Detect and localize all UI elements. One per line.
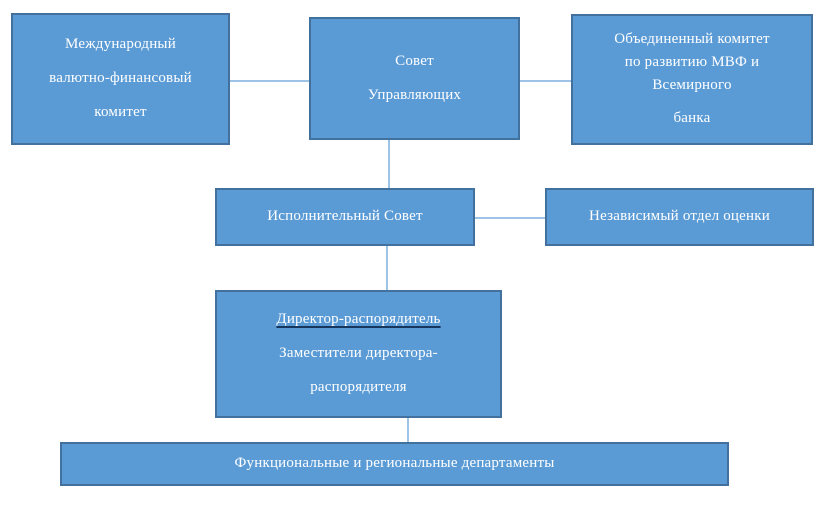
connector-board-to-development-committee: [518, 80, 573, 82]
connector-executive-board-to-managing-director: [386, 244, 388, 292]
node-executive-board-label: Исполнительный Совет: [223, 209, 467, 225]
node-development-committee-line-3: Всемирного: [579, 78, 805, 94]
node-independent-evaluation-office[interactable]: Независимый отдел оценки: [545, 188, 814, 246]
node-managing-director-line-1: Директор-распорядитель: [223, 312, 494, 328]
connector-executive-board-to-evaluation-office: [473, 217, 546, 219]
node-imfc-line-2: валютно-финансовый: [19, 71, 222, 87]
node-imfc-line-1: Международный: [19, 37, 222, 53]
node-imfc-line-3: комитет: [19, 105, 222, 121]
node-executive-board[interactable]: Исполнительный Совет: [215, 188, 475, 246]
node-departments[interactable]: Функциональные и региональные департамен…: [60, 442, 729, 486]
node-development-committee[interactable]: Объединенный комитет по развитию МВФ и В…: [571, 14, 813, 145]
node-board-of-governors-line-2: Управляющих: [317, 88, 512, 104]
node-managing-director-line-3: распорядителя: [223, 380, 494, 396]
node-development-committee-line-4: банка: [579, 111, 805, 127]
node-managing-director-line-2: Заместители директора-: [223, 346, 494, 362]
connector-board-to-executive-board: [388, 138, 390, 190]
node-managing-director[interactable]: Директор-распорядитель Заместители дирек…: [215, 290, 502, 418]
node-development-committee-line-1: Объединенный комитет: [579, 32, 805, 48]
node-board-of-governors-line-1: Совет: [317, 54, 512, 70]
node-independent-evaluation-office-label: Независимый отдел оценки: [553, 209, 806, 225]
node-departments-label: Функциональные и региональные департамен…: [68, 456, 721, 472]
org-chart-diagram: Международный валютно-финансовый комитет…: [0, 0, 824, 509]
node-development-committee-line-2: по развитию МВФ и: [579, 55, 805, 71]
connector-managing-director-to-departments: [407, 416, 409, 444]
node-board-of-governors[interactable]: Совет Управляющих: [309, 17, 520, 140]
connector-imfc-to-board: [228, 80, 311, 82]
node-imfc[interactable]: Международный валютно-финансовый комитет: [11, 13, 230, 145]
